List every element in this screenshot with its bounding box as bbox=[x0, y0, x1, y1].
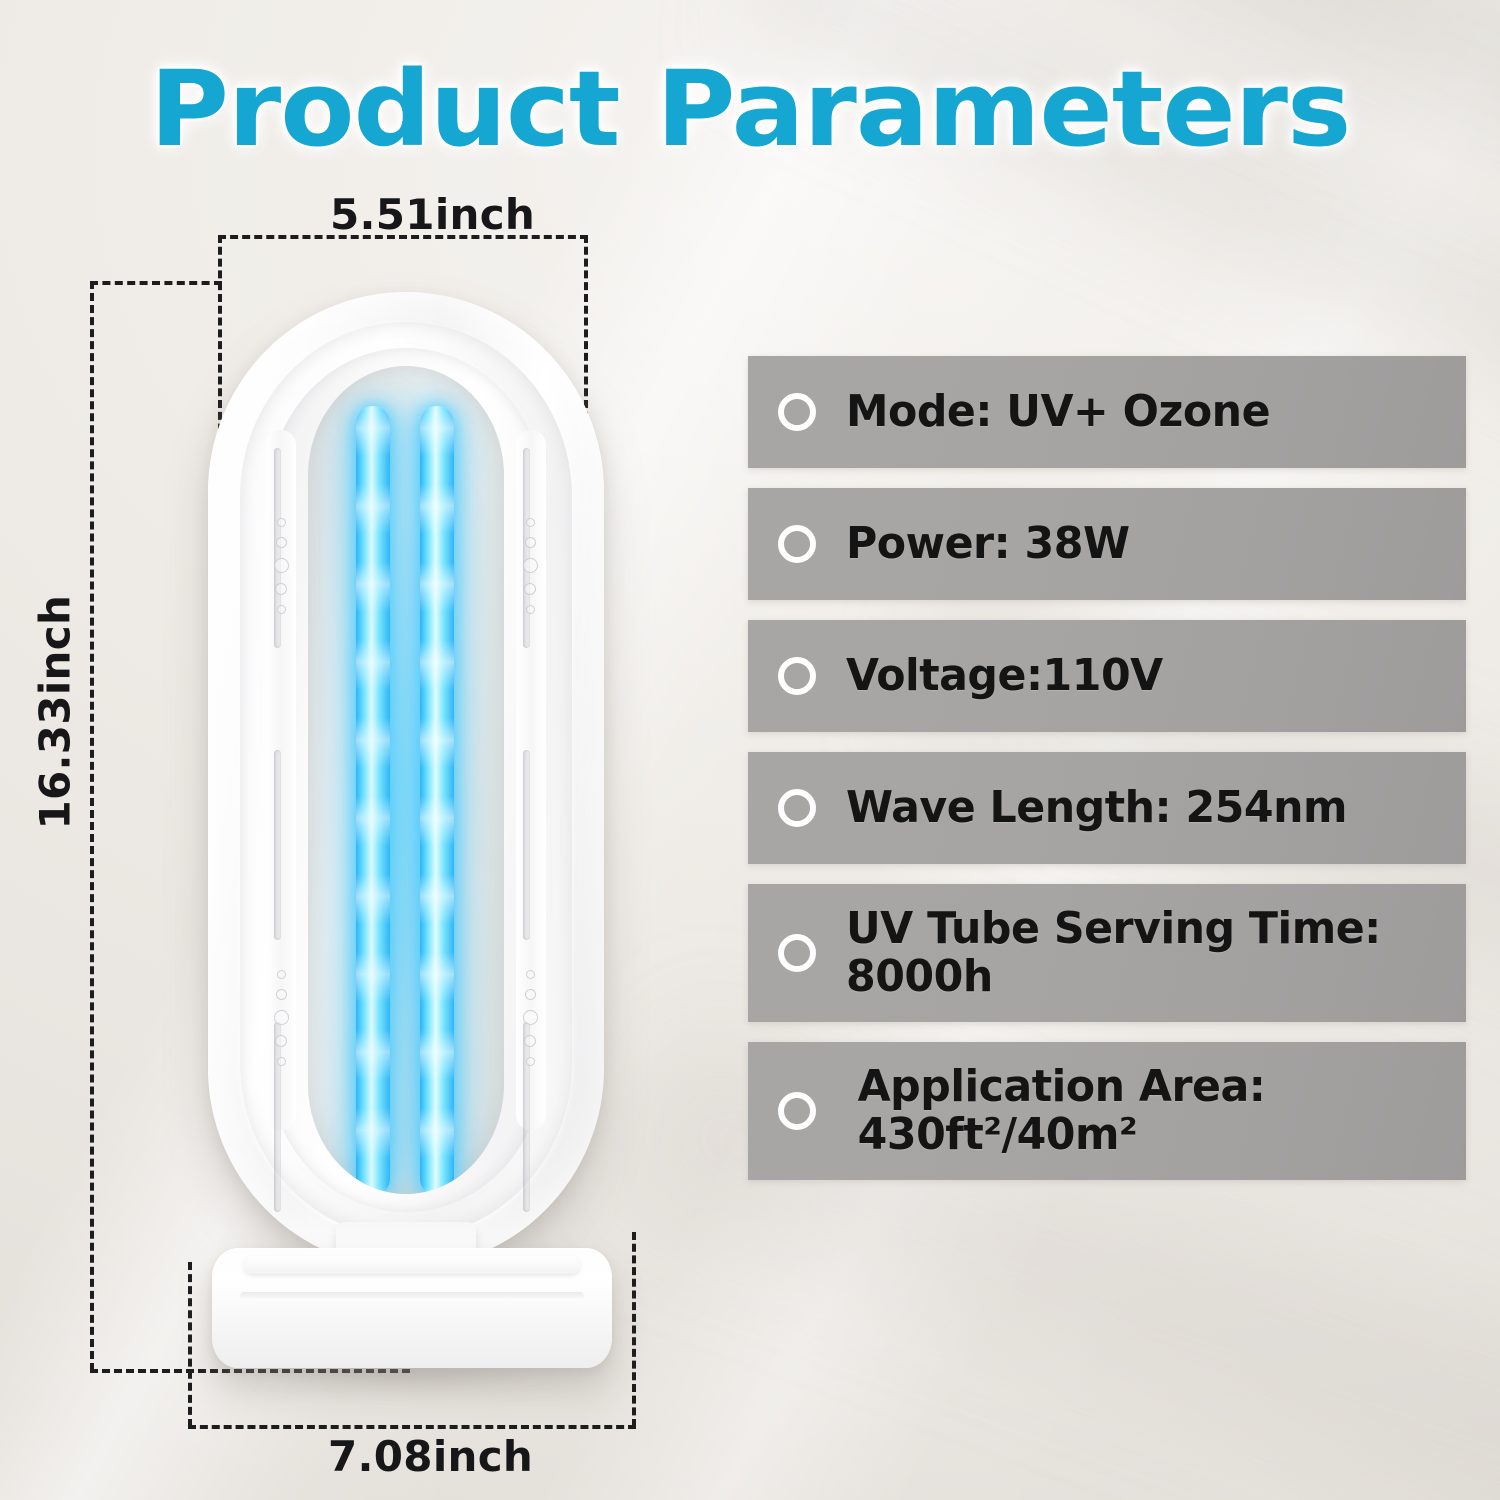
vent-slot-left-mid bbox=[274, 750, 281, 940]
spec-row-voltage: Voltage:110V bbox=[748, 620, 1466, 732]
vent-slot-right-mid bbox=[523, 750, 530, 940]
bullet-circle-icon bbox=[778, 393, 816, 431]
page-title: Product Parameters bbox=[0, 48, 1500, 170]
bullet-circle-icon bbox=[778, 525, 816, 563]
vent-dots-right-lower bbox=[519, 960, 541, 1076]
spec-row-power: Power: 38W bbox=[748, 488, 1466, 600]
uv-tube-right bbox=[420, 406, 454, 1194]
infographic-canvas: Product Parameters 5.51inch 16.33inch 7.… bbox=[0, 0, 1500, 1500]
vent-dots-left-lower bbox=[270, 960, 292, 1076]
uv-tube-left bbox=[356, 406, 390, 1194]
spec-label-wavelength: Wave Length: 254nm bbox=[846, 784, 1347, 832]
bullet-circle-icon bbox=[778, 1092, 816, 1130]
depth-guide-right bbox=[632, 1232, 636, 1427]
height-guide-left bbox=[90, 281, 94, 1371]
depth-dimension-label: 7.08inch bbox=[328, 1432, 533, 1481]
spec-label-application-area: Application Area: 430ft²/40m² bbox=[846, 1063, 1265, 1158]
height-dimension-label: 16.33inch bbox=[31, 600, 80, 830]
spec-row-mode: Mode: UV+ Ozone bbox=[748, 356, 1466, 468]
vent-dots-left-upper bbox=[270, 508, 292, 624]
spec-label-mode: Mode: UV+ Ozone bbox=[846, 388, 1270, 436]
spec-row-application-area: Application Area: 430ft²/40m² bbox=[748, 1042, 1466, 1180]
width-dimension-label: 5.51inch bbox=[330, 190, 535, 239]
depth-guide-left bbox=[188, 1262, 192, 1427]
lamp-base-groove bbox=[240, 1292, 584, 1300]
spec-label-tube-life: UV Tube Serving Time: 8000h bbox=[846, 905, 1381, 1000]
vent-dots-right-upper bbox=[519, 508, 541, 624]
lamp-base-lip bbox=[244, 1256, 580, 1274]
bullet-circle-icon bbox=[778, 789, 816, 827]
spec-list: Mode: UV+ Ozone Power: 38W Voltage:110V … bbox=[748, 356, 1466, 1200]
depth-guide-bottom bbox=[188, 1425, 636, 1429]
lamp-inner-cavity bbox=[308, 366, 504, 1194]
spec-label-power: Power: 38W bbox=[846, 520, 1130, 568]
product-image-uv-lamp bbox=[196, 280, 616, 1280]
spec-label-voltage: Voltage:110V bbox=[846, 652, 1163, 700]
bullet-circle-icon bbox=[778, 934, 816, 972]
spec-row-tube-life: UV Tube Serving Time: 8000h bbox=[748, 884, 1466, 1022]
bullet-circle-icon bbox=[778, 657, 816, 695]
spec-row-wavelength: Wave Length: 254nm bbox=[748, 752, 1466, 864]
